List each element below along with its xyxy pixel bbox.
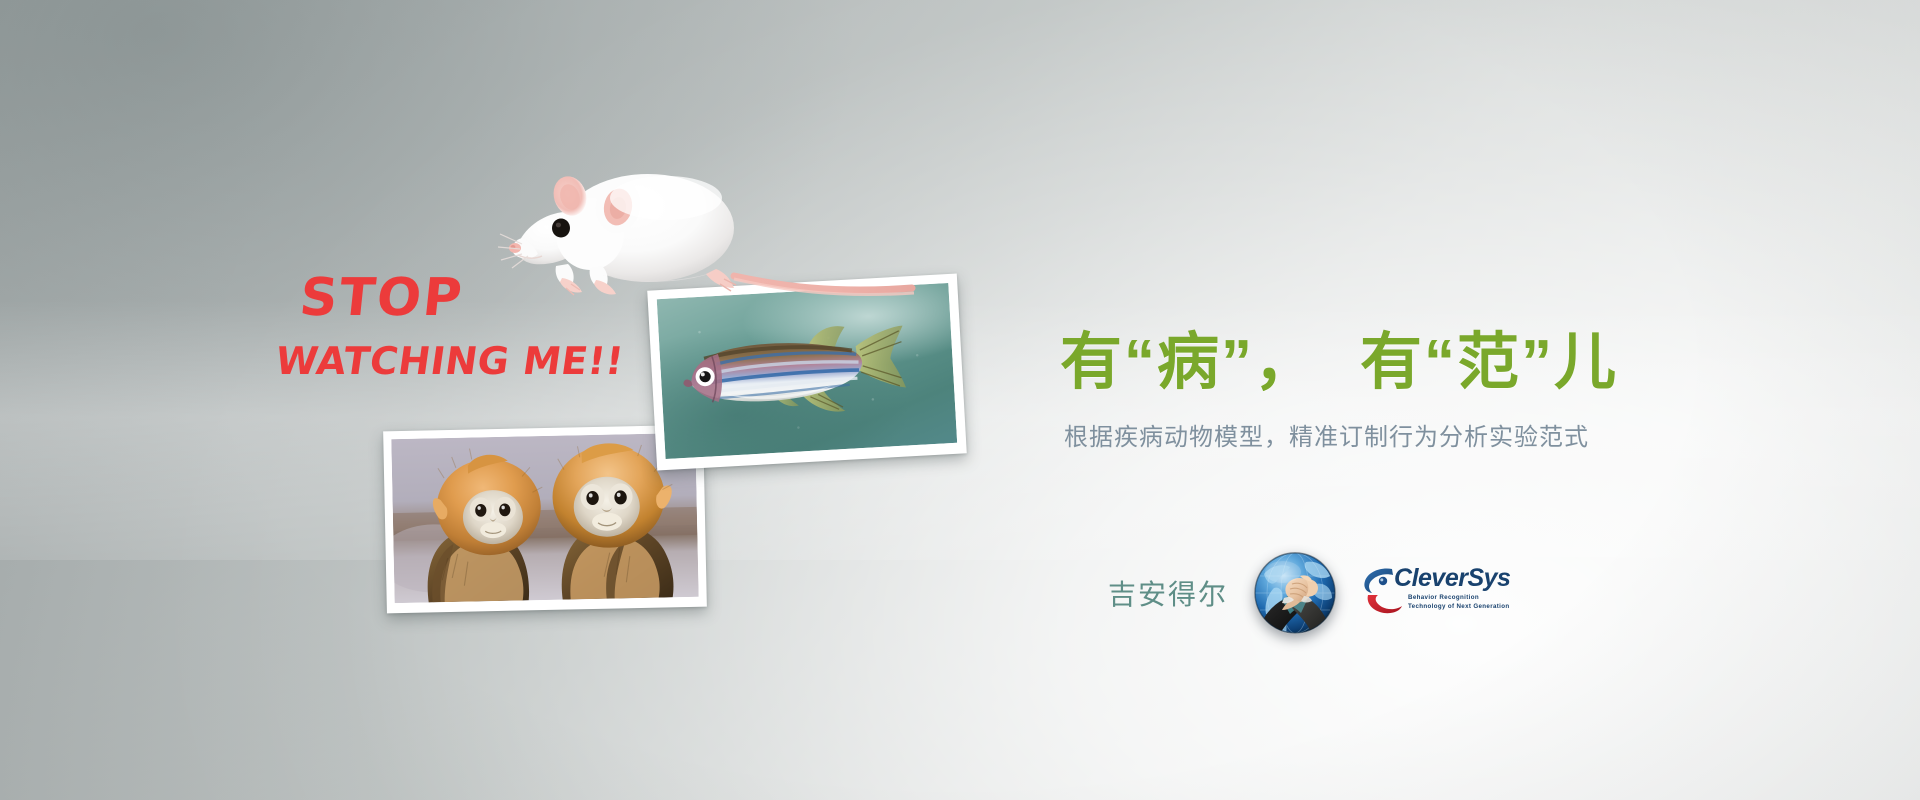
globe-handshake-graphic: [1254, 552, 1336, 634]
headline-part-2: 有“范”儿: [1360, 328, 1618, 397]
cleversys-wordmark: CleverSys: [1394, 564, 1510, 593]
headline-block: 有“病”，有“范”儿 根据疾病动物模型，精准订制行为分析实验范式: [1060, 330, 1740, 452]
globe-handshake-icon[interactable]: [1254, 552, 1336, 634]
zebrafish-illustration: [657, 283, 957, 459]
stop-watching-annotation: STOP WATCHING ME!!: [300, 272, 600, 380]
promo-banner: STOP WATCHING ME!! 有“病”，有“范”儿 根据疾病动物模型，精…: [0, 0, 1920, 800]
cleversys-tagline-line2: Technology of Next Generation: [1408, 603, 1509, 610]
monkeys-illustration: [391, 433, 698, 603]
page-title: 有“病”，有“范”儿: [1060, 330, 1740, 397]
company-name-cn[interactable]: 吉安得尔: [1108, 573, 1228, 613]
watching-me-text: WATCHING ME!!: [273, 342, 602, 380]
cleversys-tagline-line1: Behavior Recognition: [1408, 594, 1479, 601]
headline-part-1: 有“病”，: [1060, 328, 1318, 397]
page-subtitle: 根据疾病动物模型，精准订制行为分析实验范式: [1064, 417, 1740, 452]
brand-row: 吉安得尔: [1108, 552, 1496, 634]
stop-text: STOP: [297, 272, 602, 324]
photo-image-monkeys: [391, 433, 698, 603]
photo-image-zebrafish: [657, 283, 957, 459]
cleversys-logo[interactable]: CleverSys Behavior Recognition Technolog…: [1362, 565, 1496, 621]
